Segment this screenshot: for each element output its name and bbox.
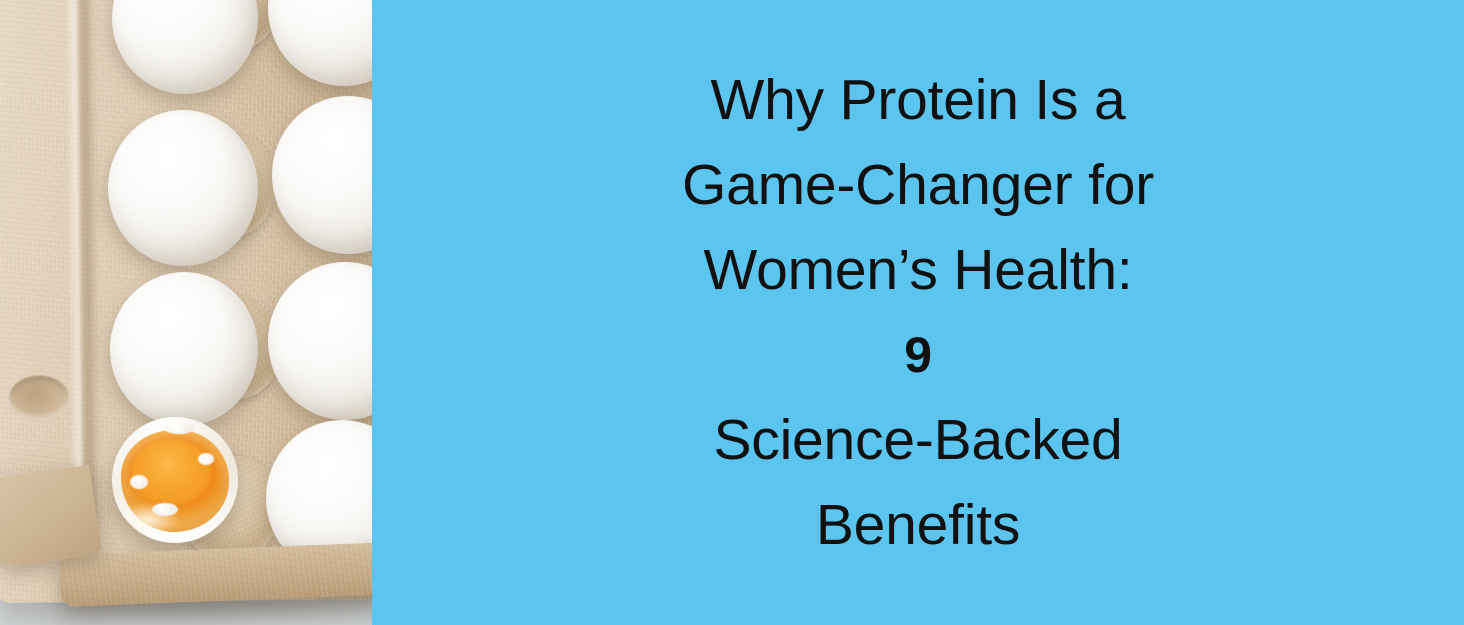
photo-stage bbox=[0, 0, 372, 625]
carton-left-flange bbox=[0, 465, 102, 569]
article-hero-banner: Why Protein Is a Game-Changer for Women’… bbox=[0, 0, 1464, 625]
headline-line-3: Women’s Health: bbox=[568, 228, 1268, 313]
egg-yolk-highlight bbox=[132, 439, 210, 505]
shell-chip-b bbox=[152, 503, 178, 516]
hero-photo bbox=[0, 0, 372, 625]
headline-panel: Why Protein Is a Game-Changer for Women’… bbox=[372, 0, 1464, 625]
headline-line-2: Game-Changer for bbox=[568, 143, 1268, 228]
page-title: Why Protein Is a Game-Changer for Women’… bbox=[568, 58, 1268, 568]
egg-left-row3 bbox=[110, 272, 258, 426]
headline-benefit-count: 9 bbox=[568, 313, 1268, 398]
headline-line-1: Why Protein Is a bbox=[568, 58, 1268, 143]
shell-chip-a bbox=[130, 475, 148, 489]
headline-line-5: Science-Backed bbox=[568, 398, 1268, 483]
headline-line-6: Benefits bbox=[568, 483, 1268, 568]
cracked-egg-with-yolk bbox=[112, 417, 238, 543]
shell-chip-d bbox=[164, 423, 194, 434]
egg-left-row2 bbox=[108, 110, 258, 266]
shell-chip-c bbox=[198, 453, 214, 465]
